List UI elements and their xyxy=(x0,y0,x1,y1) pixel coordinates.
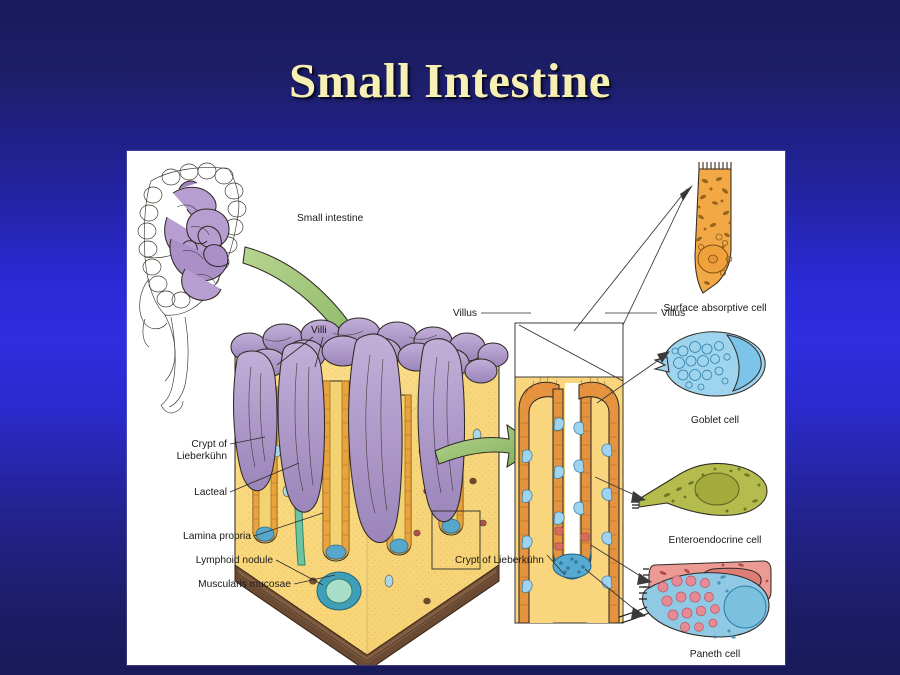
label-villus-left: Villus xyxy=(453,308,477,319)
label-lamina-propria: Lamina propria xyxy=(183,531,251,542)
label-goblet-cell: Goblet cell xyxy=(691,415,739,426)
page-title: Small Intestine xyxy=(0,52,900,109)
label-crypt-of-lieberkuhn-center: Crypt of Lieberkühn xyxy=(455,555,544,566)
label-paneth-cell: Paneth cell xyxy=(690,649,740,660)
label-surface-absorptive-cell: Surface absorptive cell xyxy=(663,303,766,314)
label-small-intestine: Small intestine xyxy=(297,213,364,224)
label-muscularis-mucosae: Muscularis mucosae xyxy=(198,579,291,590)
label-lymphoid-nodule: Lymphoid nodule xyxy=(196,555,274,566)
label-lacteal: Lacteal xyxy=(194,487,227,498)
label-crypt-of-lieberkuhn-line1: Crypt of xyxy=(191,439,227,450)
slide-canvas: Small Intestine xyxy=(0,0,900,675)
label-villi: Villi xyxy=(311,325,327,336)
label-crypt-of-lieberkuhn-line2: Lieberkühn xyxy=(177,451,227,462)
figure-panel: Small intestine xyxy=(127,151,785,665)
label-enteroendocrine-cell: Enteroendocrine cell xyxy=(669,535,762,546)
